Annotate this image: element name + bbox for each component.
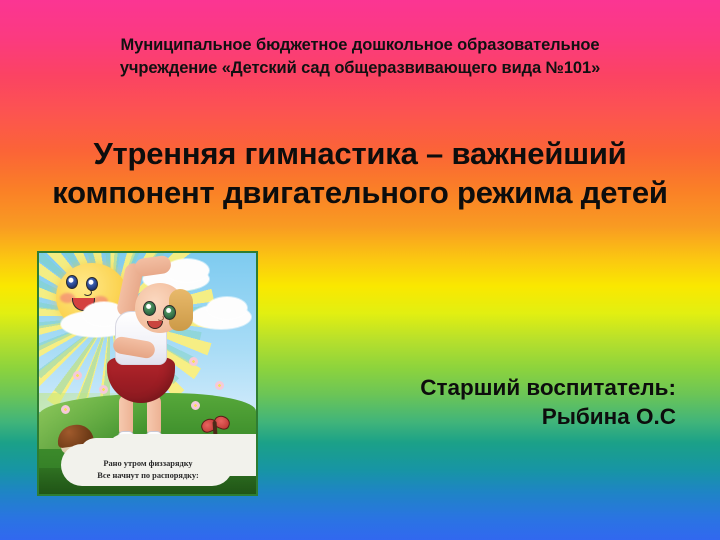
cloud-right-puff <box>207 297 247 319</box>
flower-icon <box>189 357 198 366</box>
flower-icon <box>191 401 200 410</box>
author-credit: Старший воспитатель: Рыбина О.С <box>256 374 676 432</box>
illustration-caption: Рано утром физзарядку Все начнут по расп… <box>65 458 231 482</box>
sun-eye-left <box>66 275 78 289</box>
flower-icon <box>215 381 224 390</box>
sun-nose <box>83 289 92 296</box>
flower-icon <box>99 385 108 394</box>
flower-icon <box>61 405 70 414</box>
slide-title: Утренняя гимнастика – важнейший компонен… <box>52 134 668 213</box>
girl-eye-left <box>143 301 156 316</box>
illustration-canvas: Рано утром физзарядку Все начнут по расп… <box>39 253 256 494</box>
institution-header: Муниципальное бюджетное дошкольное образ… <box>62 34 658 81</box>
illustration-image: Рано утром физзарядку Все начнут по расп… <box>37 251 258 496</box>
flower-icon <box>73 371 82 380</box>
presentation-slide: Муниципальное бюджетное дошкольное образ… <box>0 0 720 540</box>
girl-eye-right <box>163 305 176 320</box>
